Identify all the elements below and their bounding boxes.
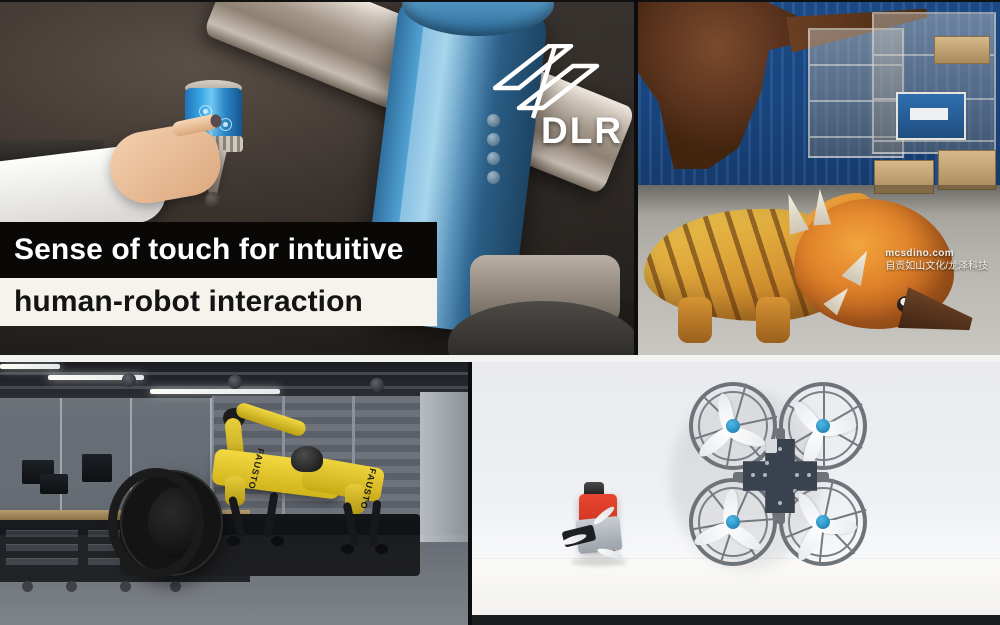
motor-hub-front-left	[726, 419, 740, 433]
robot-sensor-head	[291, 446, 323, 472]
video-collage-grid: DLR Sense of touch for intuitive human-r…	[0, 0, 1000, 625]
ceiling-light-2	[150, 389, 280, 394]
lab-monitor-3	[82, 454, 112, 482]
watermark-company: 自贡如山文化/龙泽科技	[885, 261, 988, 274]
motor-hub-rear-right	[816, 515, 830, 529]
blue-crate	[896, 92, 966, 140]
motor-hub-front-right	[816, 419, 830, 433]
triceratops-leg-2	[756, 297, 790, 343]
ceiling-light-3	[0, 364, 60, 369]
divider-vertical-bottom	[468, 362, 472, 625]
top-edge-line	[0, 0, 1000, 2]
dlr-wordmark: DLR	[541, 112, 623, 149]
caption-line-2: human-robot interaction	[0, 278, 437, 326]
letterbox-band	[472, 615, 1000, 625]
duct-rear-left	[689, 478, 777, 566]
ceiling-spotlight-2	[228, 375, 242, 389]
wall-column	[420, 392, 468, 542]
tire-rim-edge	[108, 468, 204, 578]
yellow-quadruped-robot[interactable]: FAUSTO FAUSTO	[195, 418, 385, 538]
ceiling-spotlight-3	[370, 378, 384, 392]
ducted-quadcopter[interactable]	[687, 380, 873, 572]
watermark: mcsdino.com 自贡如山文化/龙泽科技	[885, 248, 988, 273]
cardboard-box-1	[934, 36, 990, 64]
ceiling-spotlight-1	[122, 373, 136, 387]
dlr-logo: DLR	[493, 44, 633, 152]
panel-animatronic-dinosaur-workshop[interactable]: mcsdino.com 自贡如山文化/龙泽科技	[638, 0, 1000, 355]
caption-line-1: Sense of touch for intuitive	[0, 222, 437, 278]
panel-micro-drone-comparison[interactable]	[472, 362, 1000, 625]
duct-front-left	[689, 382, 777, 470]
red-micro-drone[interactable]	[567, 484, 631, 566]
caption-line-2-text: human-robot interaction	[0, 285, 363, 319]
caption-line-1-text: Sense of touch for intuitive	[0, 233, 404, 267]
panel-robot-arm-tactile-sensing[interactable]: DLR Sense of touch for intuitive human-r…	[0, 0, 634, 355]
end-effector-ball-tip	[205, 192, 221, 208]
motor-hub-rear-left	[726, 515, 740, 529]
panel-quadruped-robot-lab[interactable]: FAUSTO FAUSTO	[0, 362, 468, 625]
triceratops-leg-1	[678, 297, 712, 343]
watermark-site: mcsdino.com	[885, 248, 988, 261]
micro-drone-shadow	[571, 558, 627, 566]
lab-floor	[0, 535, 468, 625]
lab-monitor-2	[40, 474, 68, 494]
divider-vertical-top	[634, 0, 638, 355]
divider-horizontal	[0, 355, 1000, 362]
